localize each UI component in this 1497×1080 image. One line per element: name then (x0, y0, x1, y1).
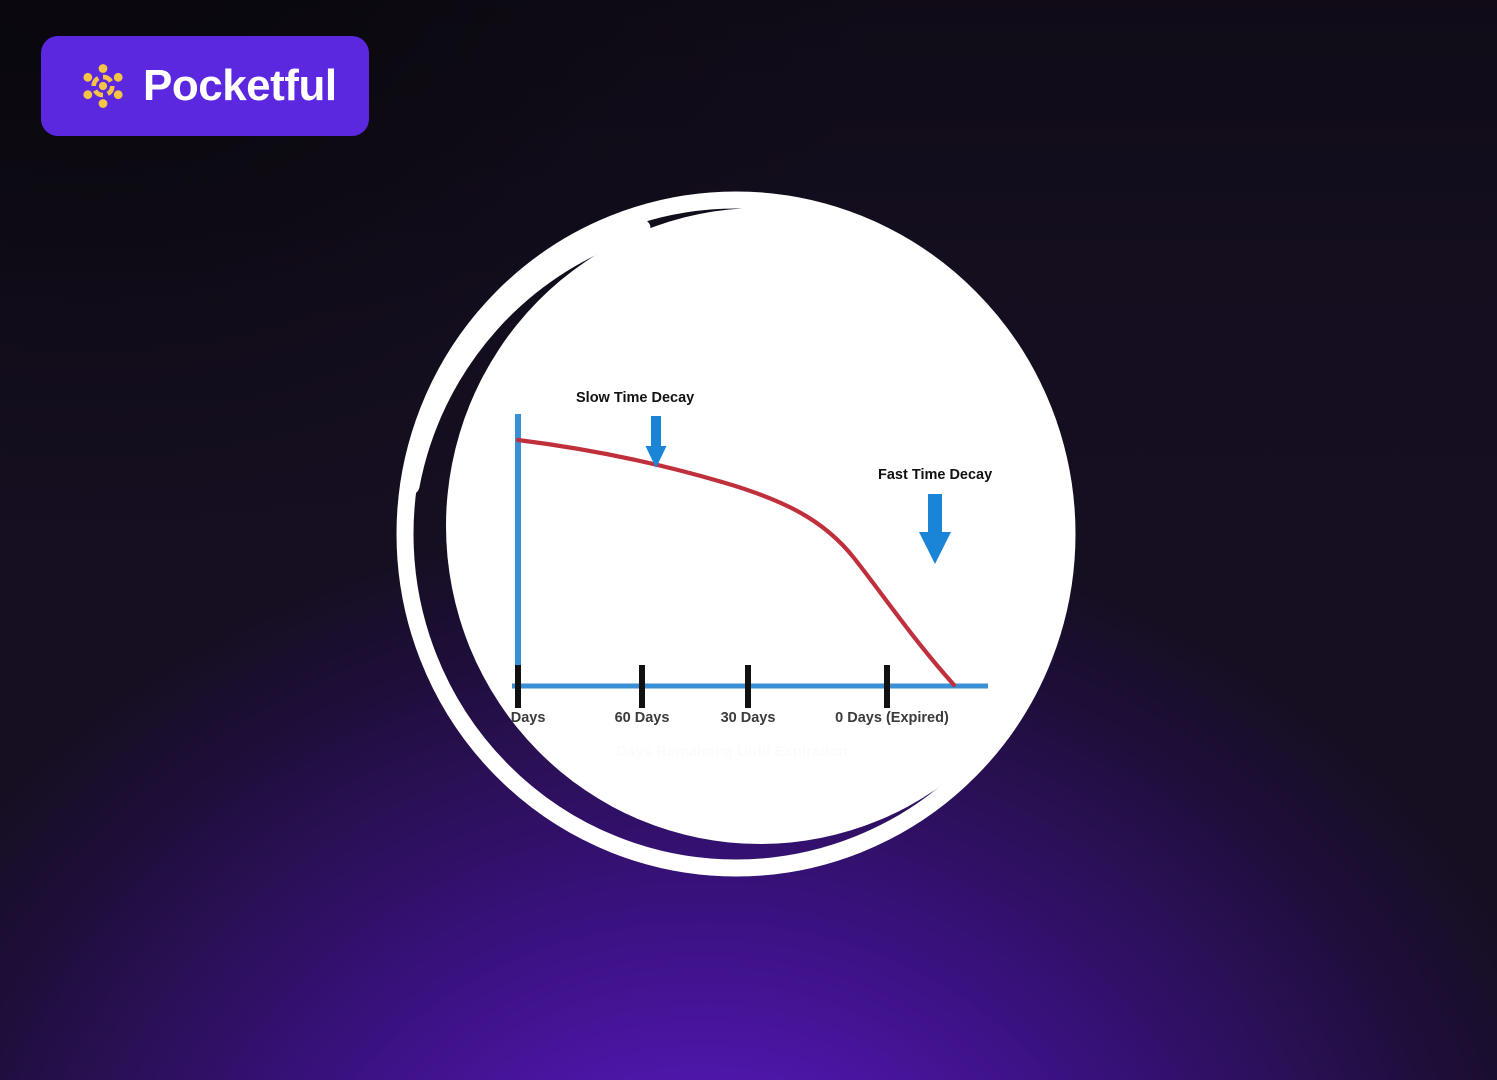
annotation-label-slow-time-decay: Slow Time Decay (576, 390, 694, 406)
x-tick-label-0: 0 Days (Expired) (835, 710, 949, 726)
x-tick-label-30: 30 Days (721, 710, 776, 726)
annotation-label-fast-time-decay: Fast Time Decay (878, 467, 992, 483)
x-tick-label-60: 60 Days (615, 710, 670, 726)
pocketful-logo-badge[interactable]: Pocketful (41, 36, 369, 136)
pocketful-sunburst-icon (77, 60, 129, 112)
x-axis-title: Days Remaining Until Expiration (616, 743, 848, 760)
x-tick-label-90: 90 Days (491, 710, 546, 726)
annotation-arrow-fast-time-decay (919, 494, 951, 564)
page-canvas: Pocketful (0, 0, 1497, 1080)
circular-illustration: Slow Time Decay Fast Time Decay 90 Days … (392, 186, 1092, 894)
pocketful-wordmark: Pocketful (143, 64, 337, 108)
time-decay-chart: Slow Time Decay Fast Time Decay 90 Days … (392, 186, 1092, 894)
annotation-arrow-slow-time-decay (646, 416, 667, 468)
disc-content: Slow Time Decay Fast Time Decay 90 Days … (392, 186, 1092, 894)
